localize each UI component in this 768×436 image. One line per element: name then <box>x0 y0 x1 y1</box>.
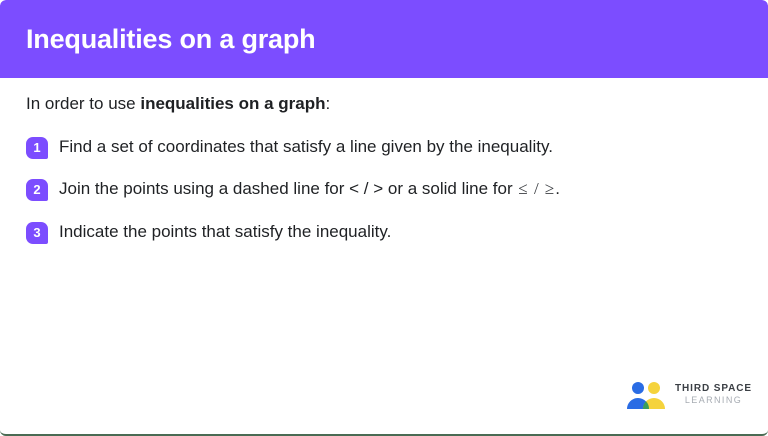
lesson-card: Inequalities on a graph In order to use … <box>0 0 768 436</box>
step-number-badge: 1 <box>26 137 48 159</box>
less-than-or-equal-symbol: ≤ <box>517 179 528 198</box>
steps-list: 1 Find a set of coordinates that satisfy… <box>26 135 742 245</box>
logo-line-1: THIRD SPACE <box>675 383 752 395</box>
brand-logo: THIRD SPACE LEARNING <box>625 378 752 410</box>
logo-wordmark: THIRD SPACE LEARNING <box>675 383 752 405</box>
intro-line: In order to use inequalities on a graph: <box>26 92 742 117</box>
intro-emphasis: inequalities on a graph <box>140 94 325 113</box>
step-text-before: Join the points using a dashed line for … <box>59 179 517 198</box>
logo-line-2: LEARNING <box>675 395 752 405</box>
list-item: 1 Find a set of coordinates that satisfy… <box>26 135 742 160</box>
symbol-separator: / <box>529 179 544 198</box>
step-number-badge: 3 <box>26 222 48 244</box>
list-item: 3 Indicate the points that satisfy the i… <box>26 220 742 245</box>
third-space-learning-logo-icon <box>625 378 667 410</box>
greater-than-or-equal-symbol: ≥ <box>544 179 555 198</box>
step-text-after: . <box>555 179 560 198</box>
header-banner: Inequalities on a graph <box>0 0 768 78</box>
page-title: Inequalities on a graph <box>0 26 315 53</box>
step-number-badge: 2 <box>26 179 48 201</box>
content-area: In order to use inequalities on a graph:… <box>0 78 768 245</box>
step-text: Indicate the points that satisfy the ine… <box>59 220 391 245</box>
step-text: Find a set of coordinates that satisfy a… <box>59 135 553 160</box>
intro-lead: In order to use <box>26 94 140 113</box>
step-text: Join the points using a dashed line for … <box>59 177 560 202</box>
list-item: 2 Join the points using a dashed line fo… <box>26 177 742 202</box>
intro-trail: : <box>325 94 330 113</box>
